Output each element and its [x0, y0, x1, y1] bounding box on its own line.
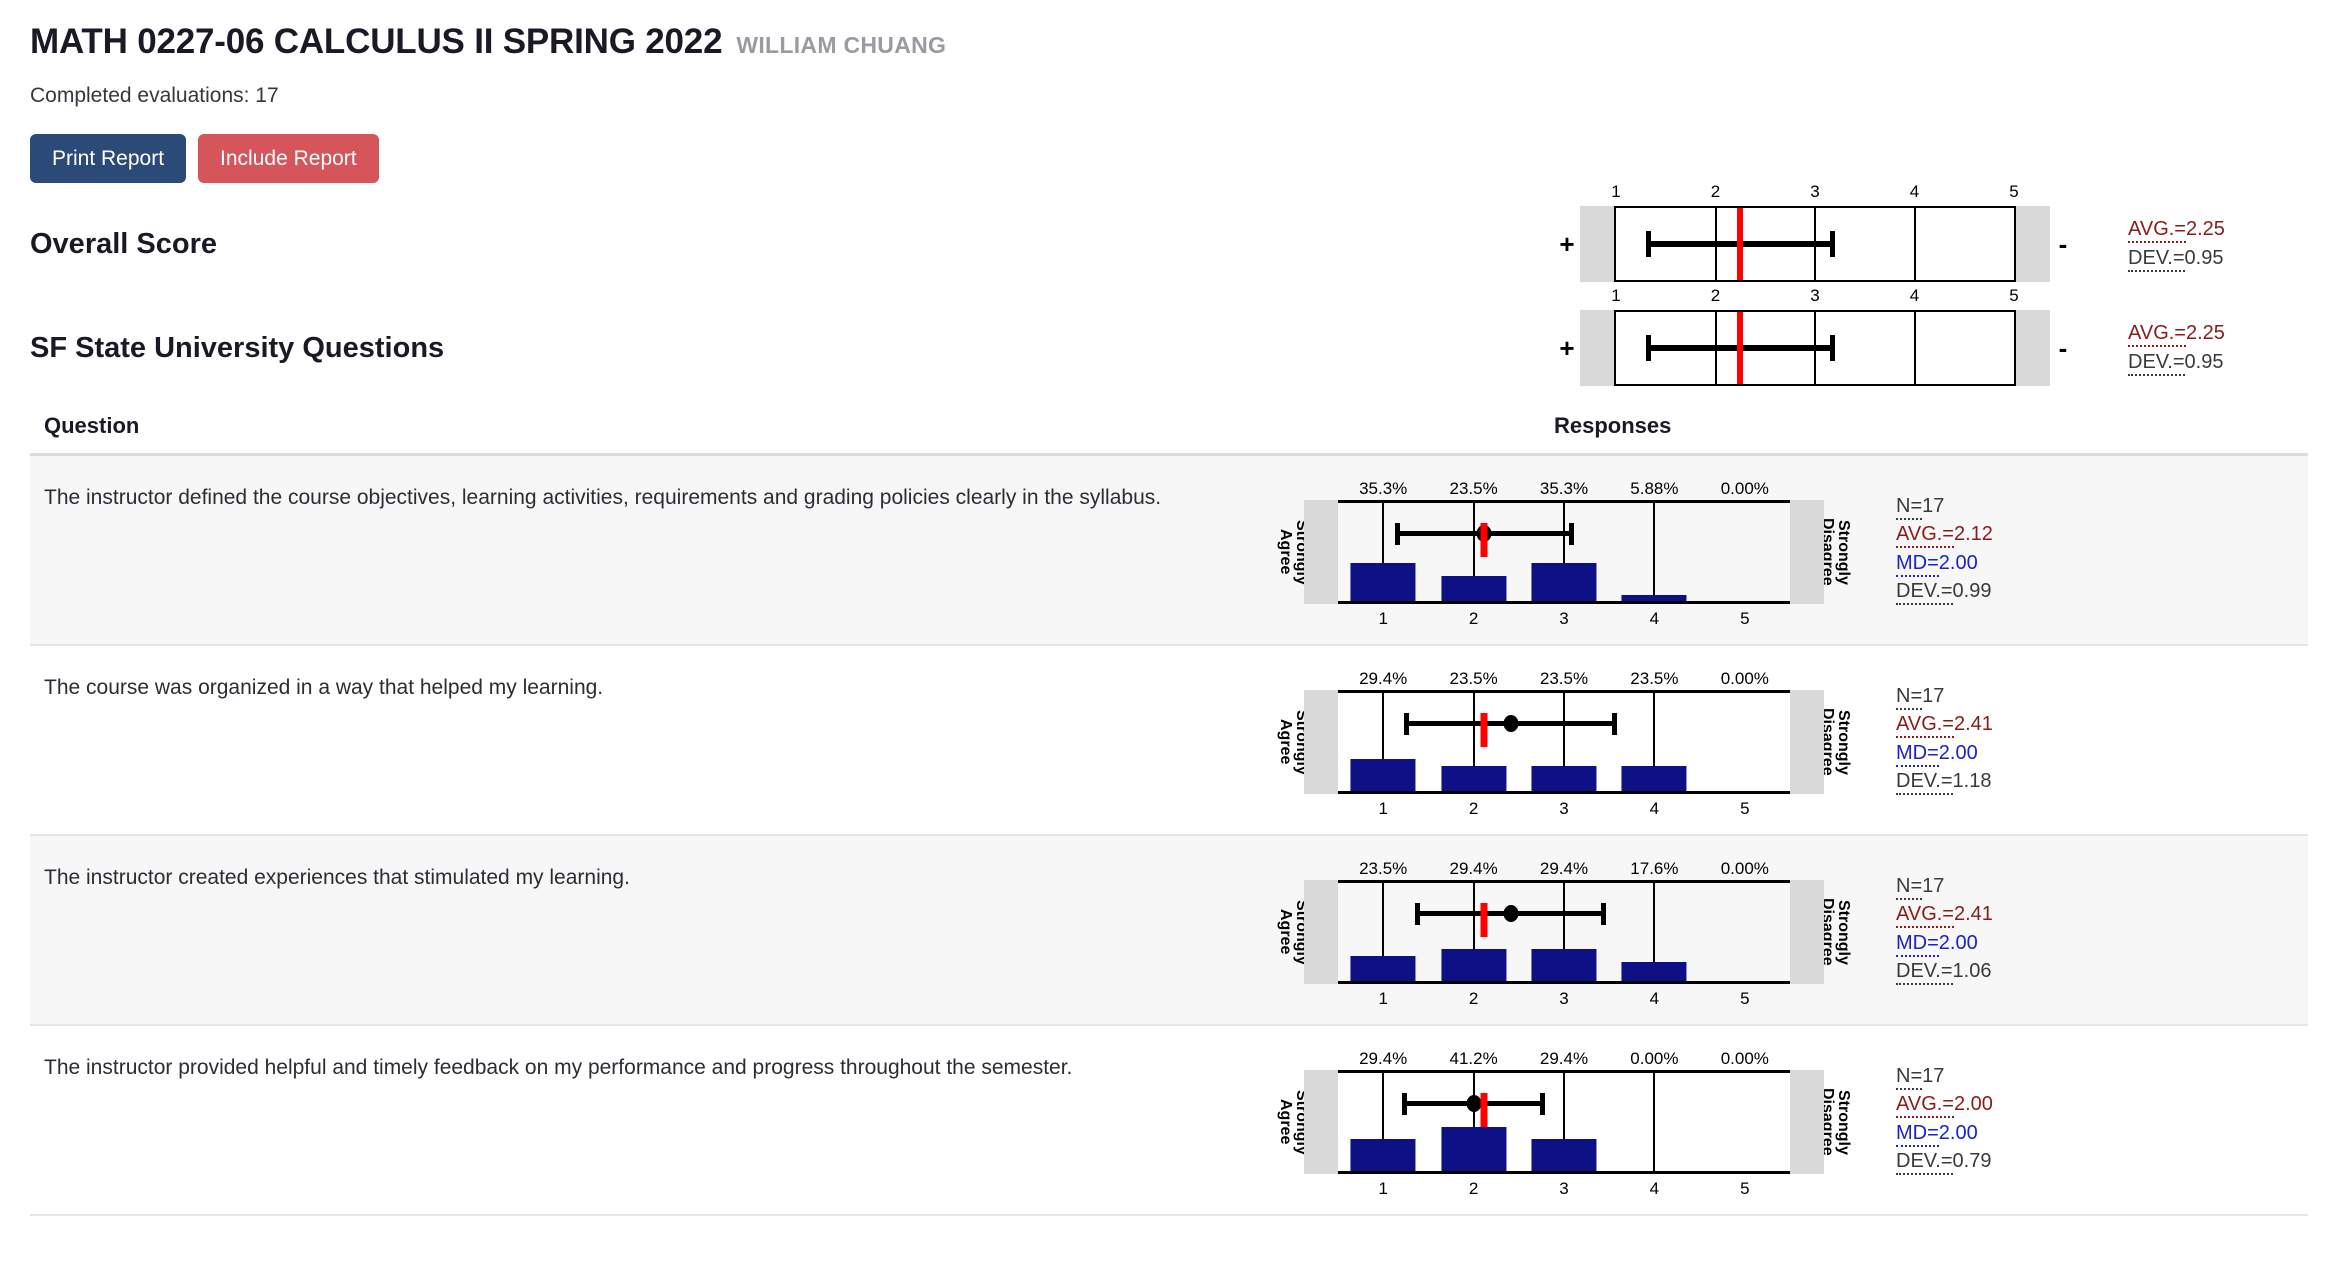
stat-deviation-value: 0.95 [2185, 247, 2224, 269]
average-marker [1737, 208, 1743, 280]
bars-plot: 29.4%141.2%229.4%30.00%40.00%5 [1338, 1070, 1790, 1174]
percentage-label: 0.00% [1630, 1049, 1678, 1069]
chart-pad-right [1790, 880, 1824, 984]
scale-tick-label: 1 [1611, 182, 1620, 202]
scale-tick-label: 3 [1810, 286, 1819, 306]
category-label: 1 [1378, 989, 1387, 1009]
category-label: 3 [1559, 609, 1568, 629]
scale-gridline [1914, 208, 1916, 280]
section-heading: Overall Score [30, 228, 217, 261]
mean-marker [1503, 905, 1518, 922]
median-marker [1480, 1093, 1487, 1127]
category-label: 2 [1469, 799, 1478, 819]
page-title: MATH 0227-06 CALCULUS II SPRING 2022 [30, 22, 722, 62]
response-chart-cell: Strongly AgreeStrongly Disagree35.3%123.… [1284, 482, 2086, 628]
category-label: 2 [1469, 989, 1478, 1009]
stat-average: AVG.=2.12 [1896, 520, 2086, 548]
category-label: 4 [1650, 609, 1659, 629]
stat-count-value: 17 [1922, 875, 1944, 897]
table-row: The instructor defined the course object… [30, 456, 2308, 646]
summary-chart-area: +12345-AVG.=2.25DEV.=0.95 [1554, 310, 2308, 386]
mean-marker [1466, 1095, 1481, 1112]
stat-average-label: AVG.= [1896, 903, 1954, 928]
scale-tick-label: 5 [2009, 286, 2018, 306]
deviation-cap [1540, 1093, 1545, 1115]
stat-deviation: DEV.=1.18 [1896, 767, 2086, 795]
summary-sections: Overall Score+12345-AVG.=2.25DEV.=0.95SF… [30, 201, 2308, 391]
stat-average-label: AVG.= [1896, 713, 1954, 738]
stat-median-label: MD= [1896, 552, 1939, 577]
summary-section: Overall Score+12345-AVG.=2.25DEV.=0.95 [30, 201, 2308, 287]
stat-deviation: DEV.=1.06 [1896, 957, 2086, 985]
scale-box: 12345 [1614, 206, 2016, 282]
chart-plot-area: 29.4%141.2%229.4%30.00%40.00%5 [1304, 1070, 1824, 1174]
stat-average: AVG.=2.41 [1896, 710, 2086, 738]
category-label: 2 [1469, 609, 1478, 629]
stat-average-value: 2.41 [1954, 713, 1993, 735]
bar [1441, 576, 1506, 601]
percentage-label: 29.4% [1449, 859, 1497, 879]
category-label: 5 [1740, 1179, 1749, 1199]
polarity-negative: - [2050, 229, 2076, 260]
chart-plot-area: 23.5%129.4%229.4%317.6%40.00%5 [1304, 880, 1824, 984]
stat-count-value: 17 [1922, 1065, 1944, 1087]
scale-label-strongly-disagree: Strongly Disagree [1826, 500, 1844, 604]
question-text: The course was organized in a way that h… [44, 672, 1284, 705]
report-page: MATH 0227-06 CALCULUS II SPRING 2022 WIL… [0, 0, 2338, 1216]
summary-chart: +12345- [1554, 310, 2076, 386]
response-chart-cell: Strongly AgreeStrongly Disagree29.4%123.… [1284, 672, 2086, 818]
percentage-label: 0.00% [1721, 479, 1769, 499]
deviation-cap [1402, 1093, 1407, 1115]
stat-deviation-value: 0.79 [1953, 1150, 1992, 1172]
bar [1531, 563, 1596, 601]
deviation-cap [1830, 335, 1835, 361]
questions-table: Question Responses The instructor define… [30, 413, 2308, 1216]
bar [1531, 949, 1596, 981]
chart-pad-left [1304, 880, 1338, 984]
response-chart-cell: Strongly AgreeStrongly Disagree23.5%129.… [1284, 862, 2086, 1008]
stat-deviation: DEV.=0.99 [1896, 577, 2086, 605]
stat-average-value: 2.12 [1954, 523, 1993, 545]
scale-box: 12345 [1614, 310, 2016, 386]
category-label: 1 [1378, 799, 1387, 819]
summary-statistics: AVG.=2.25DEV.=0.95 [2128, 319, 2308, 377]
bars-plot: 23.5%129.4%229.4%317.6%40.00%5 [1338, 880, 1790, 984]
chart-plot-area: 35.3%123.5%235.3%35.88%40.00%5 [1304, 500, 1824, 604]
scale-pad-left [1580, 206, 1614, 282]
bar [1351, 563, 1416, 601]
scale-tick-label: 2 [1711, 286, 1720, 306]
summary-statistics: AVG.=2.25DEV.=0.95 [2128, 215, 2308, 273]
scale-tick-label: 2 [1711, 182, 1720, 202]
bar [1531, 766, 1596, 791]
scale-gridline [1914, 312, 1916, 384]
stat-average: AVG.=2.00 [1896, 1090, 2086, 1118]
chart-pad-right [1790, 690, 1824, 794]
stat-deviation-value: 0.99 [1953, 580, 1992, 602]
chart-pad-left [1304, 1070, 1338, 1174]
chart-gridline [1653, 503, 1655, 601]
stat-deviation-label: DEV.= [1896, 770, 1953, 795]
polarity-positive: + [1554, 333, 1580, 364]
stat-deviation-label: DEV.= [1896, 960, 1953, 985]
response-distribution-chart: Strongly AgreeStrongly Disagree29.4%123.… [1284, 672, 1844, 818]
category-label: 2 [1469, 1179, 1478, 1199]
chart-plot-area: 29.4%123.5%223.5%323.5%40.00%5 [1304, 690, 1824, 794]
scale-pad-right [2016, 310, 2050, 386]
stat-count-label: N= [1896, 1065, 1922, 1090]
percentage-label: 35.3% [1359, 479, 1407, 499]
category-label: 5 [1740, 989, 1749, 1009]
scale-label-strongly-agree: Strongly Agree [1284, 1070, 1302, 1174]
stat-deviation-value: 1.18 [1953, 770, 1992, 792]
category-label: 4 [1650, 989, 1659, 1009]
deviation-cap [1612, 713, 1617, 735]
chart-gridline [1653, 1073, 1655, 1171]
summary-chart-area: +12345-AVG.=2.25DEV.=0.95 [1554, 206, 2308, 282]
question-text: The instructor defined the course object… [44, 482, 1284, 515]
action-buttons: Print Report Include Report [30, 134, 2308, 183]
stat-count: N=17 [1896, 682, 2086, 710]
bar [1351, 1139, 1416, 1171]
category-label: 1 [1378, 1179, 1387, 1199]
percentage-label: 17.6% [1630, 859, 1678, 879]
stat-deviation-value: 1.06 [1953, 960, 1992, 982]
stat-deviation: DEV.=0.95 [2128, 244, 2308, 273]
deviation-cap [1569, 523, 1574, 545]
stat-average: AVG.=2.25 [2128, 319, 2308, 348]
column-header-question: Question [44, 413, 1534, 439]
scale-tick-label: 4 [1910, 286, 1919, 306]
stat-average: AVG.=2.25 [2128, 215, 2308, 244]
stat-average: AVG.=2.41 [1896, 900, 2086, 928]
stat-median-value: 2.00 [1939, 552, 1978, 574]
stat-median-value: 2.00 [1939, 1122, 1978, 1144]
stat-average-value: 2.00 [1954, 1093, 1993, 1115]
scale-pad-left [1580, 310, 1614, 386]
response-distribution-chart: Strongly AgreeStrongly Disagree23.5%129.… [1284, 862, 1844, 1008]
category-label: 5 [1740, 609, 1749, 629]
percentage-label: 23.5% [1449, 669, 1497, 689]
stat-count-value: 17 [1922, 495, 1944, 517]
scale-tick-label: 4 [1910, 182, 1919, 202]
print-report-button[interactable]: Print Report [30, 134, 186, 183]
stat-deviation-value: 0.95 [2185, 351, 2224, 373]
table-row: The course was organized in a way that h… [30, 646, 2308, 836]
scale-label-strongly-agree: Strongly Agree [1284, 690, 1302, 794]
bar [1622, 595, 1687, 601]
stat-average-value: 2.41 [1954, 903, 1993, 925]
category-label: 4 [1650, 1179, 1659, 1199]
bar [1351, 759, 1416, 791]
percentage-label: 0.00% [1721, 669, 1769, 689]
include-report-button[interactable]: Include Report [198, 134, 379, 183]
stat-median: MD=2.00 [1896, 549, 2086, 577]
column-header-responses: Responses [1534, 413, 2294, 439]
scale-label-strongly-disagree: Strongly Disagree [1826, 1070, 1844, 1174]
bars-plot: 35.3%123.5%235.3%35.88%40.00%5 [1338, 500, 1790, 604]
deviation-cap [1601, 903, 1606, 925]
summary-scale-plot: 12345 [1580, 206, 2050, 282]
table-row: The instructor created experiences that … [30, 836, 2308, 1026]
response-statistics: N=17AVG.=2.41MD=2.00DEV.=1.06 [1896, 862, 2086, 986]
deviation-cap [1646, 335, 1651, 361]
instructor-name: WILLIAM CHUANG [736, 32, 946, 59]
category-label: 3 [1559, 989, 1568, 1009]
chart-pad-left [1304, 500, 1338, 604]
completed-evaluations-count: Completed evaluations: 17 [30, 84, 2308, 108]
stat-median-label: MD= [1896, 742, 1939, 767]
stat-count-label: N= [1896, 685, 1922, 710]
scale-pad-right [2016, 206, 2050, 282]
summary-scale-plot: 12345 [1580, 310, 2050, 386]
scale-tick-label: 3 [1810, 182, 1819, 202]
stat-deviation-label: DEV.= [2128, 247, 2185, 272]
stat-median-value: 2.00 [1939, 932, 1978, 954]
median-marker [1480, 523, 1487, 557]
percentage-label: 29.4% [1359, 1049, 1407, 1069]
percentage-label: 35.3% [1540, 479, 1588, 499]
stat-deviation-label: DEV.= [2128, 351, 2185, 376]
category-label: 3 [1559, 799, 1568, 819]
scale-tick-label: 5 [2009, 182, 2018, 202]
response-distribution-chart: Strongly AgreeStrongly Disagree35.3%123.… [1284, 482, 1844, 628]
response-distribution-chart: Strongly AgreeStrongly Disagree29.4%141.… [1284, 1052, 1844, 1198]
table-body: The instructor defined the course object… [30, 456, 2308, 1216]
stat-count-label: N= [1896, 495, 1922, 520]
section-heading: SF State University Questions [30, 332, 444, 365]
deviation-cap [1646, 231, 1651, 257]
stat-count-value: 17 [1922, 685, 1944, 707]
stat-median-label: MD= [1896, 932, 1939, 957]
summary-chart: +12345- [1554, 206, 2076, 282]
bars-plot: 29.4%123.5%223.5%323.5%40.00%5 [1338, 690, 1790, 794]
stat-count: N=17 [1896, 872, 2086, 900]
bar [1441, 1127, 1506, 1171]
percentage-label: 29.4% [1359, 669, 1407, 689]
scale-label-strongly-disagree: Strongly Disagree [1826, 690, 1844, 794]
report-header: MATH 0227-06 CALCULUS II SPRING 2022 WIL… [30, 22, 2308, 62]
category-label: 4 [1650, 799, 1659, 819]
stat-deviation: DEV.=0.79 [1896, 1147, 2086, 1175]
percentage-label: 29.4% [1540, 1049, 1588, 1069]
polarity-positive: + [1554, 229, 1580, 260]
category-label: 3 [1559, 1179, 1568, 1199]
stat-count-label: N= [1896, 875, 1922, 900]
stat-average-label: AVG.= [1896, 523, 1954, 548]
percentage-label: 0.00% [1721, 1049, 1769, 1069]
stat-deviation-label: DEV.= [1896, 1150, 1953, 1175]
percentage-label: 5.88% [1630, 479, 1678, 499]
chart-pad-left [1304, 690, 1338, 794]
stat-average-value: 2.25 [2186, 218, 2225, 240]
scale-tick-label: 1 [1611, 286, 1620, 306]
stat-median: MD=2.00 [1896, 1119, 2086, 1147]
category-label: 1 [1378, 609, 1387, 629]
response-statistics: N=17AVG.=2.41MD=2.00DEV.=1.18 [1896, 672, 2086, 796]
stat-count: N=17 [1896, 1062, 2086, 1090]
deviation-cap [1404, 713, 1409, 735]
bar [1622, 766, 1687, 791]
scale-label-strongly-agree: Strongly Agree [1284, 880, 1302, 984]
question-text: The instructor created experiences that … [44, 862, 1284, 895]
deviation-cap [1415, 903, 1420, 925]
stat-median: MD=2.00 [1896, 929, 2086, 957]
stat-deviation-label: DEV.= [1896, 580, 1953, 605]
response-statistics: N=17AVG.=2.12MD=2.00DEV.=0.99 [1896, 482, 2086, 606]
question-text: The instructor provided helpful and time… [44, 1052, 1284, 1085]
polarity-negative: - [2050, 333, 2076, 364]
bar [1622, 962, 1687, 981]
percentage-label: 23.5% [1540, 669, 1588, 689]
stat-average-label: AVG.= [2128, 322, 2186, 347]
median-marker [1480, 903, 1487, 937]
deviation-cap [1830, 231, 1835, 257]
stat-deviation: DEV.=0.95 [2128, 348, 2308, 377]
stat-count: N=17 [1896, 492, 2086, 520]
stat-average-label: AVG.= [1896, 1093, 1954, 1118]
percentage-label: 23.5% [1359, 859, 1407, 879]
percentage-label: 0.00% [1721, 859, 1769, 879]
percentage-label: 23.5% [1630, 669, 1678, 689]
deviation-cap [1395, 523, 1400, 545]
percentage-label: 41.2% [1449, 1049, 1497, 1069]
stat-average-label: AVG.= [2128, 218, 2186, 243]
scale-label-strongly-agree: Strongly Agree [1284, 500, 1302, 604]
scale-label-strongly-disagree: Strongly Disagree [1826, 880, 1844, 984]
category-label: 5 [1740, 799, 1749, 819]
bar [1531, 1139, 1596, 1171]
mean-marker [1503, 715, 1518, 732]
bar [1441, 766, 1506, 791]
percentage-label: 23.5% [1449, 479, 1497, 499]
table-row: The instructor provided helpful and time… [30, 1026, 2308, 1216]
summary-section: SF State University Questions+12345-AVG.… [30, 305, 2308, 391]
average-marker [1737, 312, 1743, 384]
stat-average-value: 2.25 [2186, 322, 2225, 344]
stat-median: MD=2.00 [1896, 739, 2086, 767]
median-marker [1480, 713, 1487, 747]
table-header-row: Question Responses [30, 413, 2308, 456]
response-statistics: N=17AVG.=2.00MD=2.00DEV.=0.79 [1896, 1052, 2086, 1176]
response-chart-cell: Strongly AgreeStrongly Disagree29.4%141.… [1284, 1052, 2086, 1198]
bar [1351, 956, 1416, 981]
chart-pad-right [1790, 1070, 1824, 1174]
stat-median-value: 2.00 [1939, 742, 1978, 764]
percentage-label: 29.4% [1540, 859, 1588, 879]
chart-pad-right [1790, 500, 1824, 604]
bar [1441, 949, 1506, 981]
stat-median-label: MD= [1896, 1122, 1939, 1147]
